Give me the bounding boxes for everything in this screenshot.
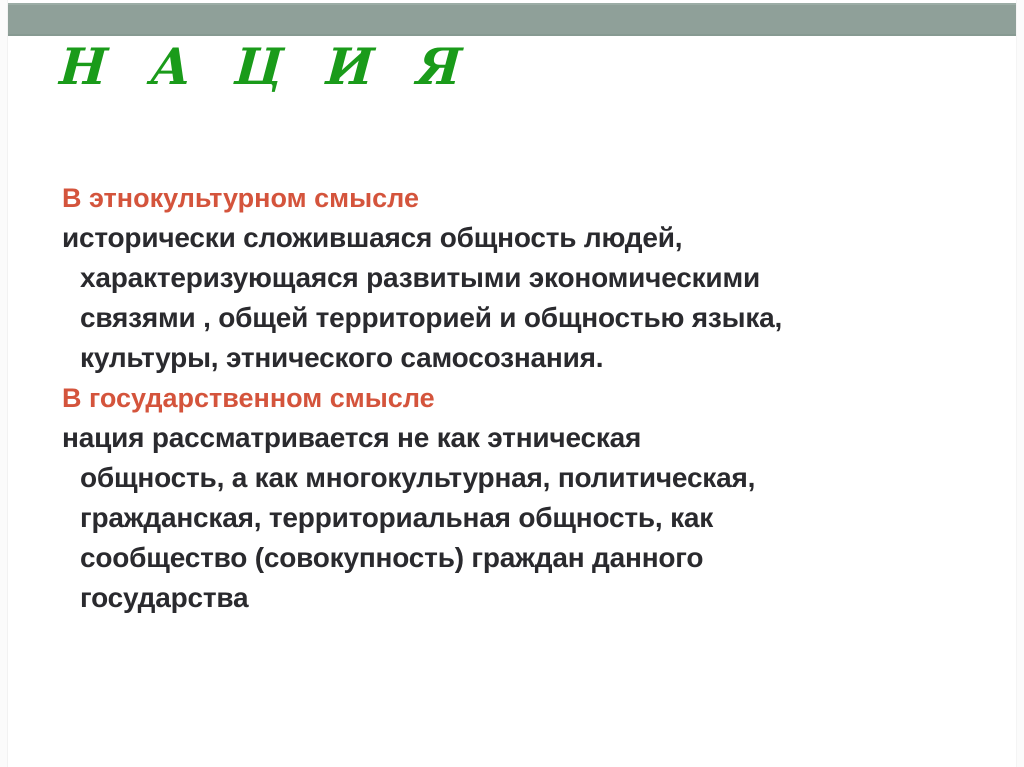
- body-line: связями , общей территорией и общностью …: [62, 298, 964, 338]
- body-line: культуры, этнического самосознания.: [62, 338, 964, 378]
- body-line: характеризующаяся развитыми экономически…: [62, 258, 964, 298]
- body-line: исторически сложившаяся общность людей,: [62, 218, 964, 258]
- body-line: гражданская, территориальная общность, к…: [62, 498, 964, 538]
- section-heading-state: В государственном смысле: [0, 378, 1024, 418]
- body-line: общность, а как многокультурная, политич…: [62, 458, 964, 498]
- body-line: государства: [62, 578, 964, 618]
- slide-content: В этнокультурном смысле исторически слож…: [0, 178, 1024, 618]
- presentation-slide: Н А Ц И Я В этнокультурном смысле истори…: [0, 0, 1024, 767]
- body-line: сообщество (совокупность) граждан данног…: [62, 538, 964, 578]
- section-heading-ethnocultural: В этнокультурном смысле: [0, 178, 1024, 218]
- section-body-state: нация рассматривается не как этническая …: [0, 418, 1024, 618]
- section-state: В государственном смысле нация рассматри…: [0, 378, 1024, 618]
- body-line: нация рассматривается не как этническая: [62, 418, 964, 458]
- slide-header-band: [8, 3, 1016, 36]
- section-body-ethnocultural: исторически сложившаяся общность людей, …: [0, 218, 1024, 378]
- slide-title: Н А Ц И Я: [58, 36, 477, 98]
- section-ethnocultural: В этнокультурном смысле исторически слож…: [0, 178, 1024, 378]
